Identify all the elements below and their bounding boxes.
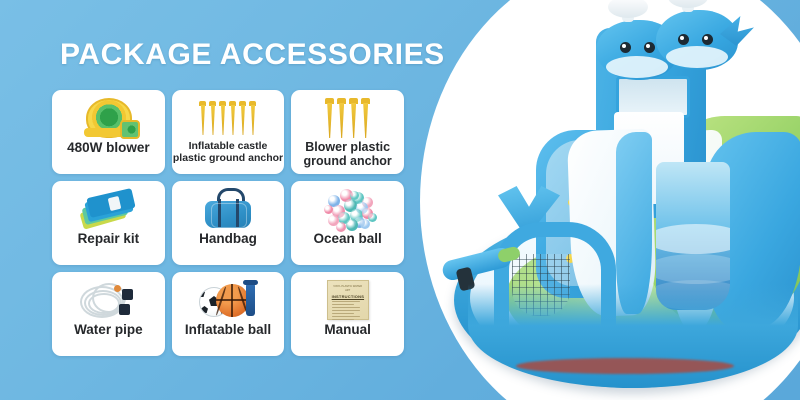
instruction-manual-icon: VINYL PLASTIC WATER ART INSTRUCTIONS (291, 277, 404, 323)
accessory-card-castle-anchor[interactable]: Inflatable castle plastic ground anchor (172, 90, 285, 174)
ground-anchor-icon (172, 95, 285, 141)
accessory-label: Manual (291, 323, 404, 338)
accessory-label: Inflatable castle plastic ground anchor (172, 141, 285, 165)
accessory-card-blower[interactable]: 480W blower (52, 90, 165, 174)
promo-banner: PACKAGE ACCESSORIES 480W blower Inflat (0, 0, 800, 400)
water-hose-icon (52, 277, 165, 323)
accessory-card-blower-anchor[interactable]: Blower plastic ground anchor (291, 90, 404, 174)
inflatable-water-slide-illustration (420, 0, 800, 400)
whale-head-right (656, 10, 738, 70)
manual-title: INSTRUCTIONS (332, 294, 364, 299)
accessory-label: Handbag (172, 232, 285, 247)
accessory-label: 480W blower (52, 141, 165, 156)
page-title: PACKAGE ACCESSORIES (60, 38, 445, 72)
accessory-card-ocean-ball[interactable]: Ocean ball (291, 181, 404, 265)
accessories-grid: 480W blower Inflatable castle plastic gr… (52, 90, 404, 356)
product-image-stage (420, 0, 800, 400)
repair-patch-icon (52, 186, 165, 232)
sports-balls-pump-icon (172, 277, 285, 323)
ground-anchor-icon (291, 95, 404, 141)
accessory-card-water-pipe[interactable]: Water pipe (52, 272, 165, 356)
accessory-label: Water pipe (52, 323, 165, 338)
handbag-icon (172, 186, 285, 232)
ocean-balls-icon (291, 186, 404, 232)
accessory-label: Repair kit (52, 232, 165, 247)
accessory-card-handbag[interactable]: Handbag (172, 181, 285, 265)
air-blower-icon (52, 95, 165, 141)
accessory-label: Inflatable ball (172, 323, 285, 338)
pool-base-trim (516, 358, 734, 374)
accessory-card-repair-kit[interactable]: Repair kit (52, 181, 165, 265)
accessory-card-inflatable-ball[interactable]: Inflatable ball (172, 272, 285, 356)
accessory-card-manual[interactable]: VINYL PLASTIC WATER ART INSTRUCTIONS Man… (291, 272, 404, 356)
manual-header: VINYL PLASTIC WATER ART (332, 285, 364, 293)
accessory-label: Blower plastic ground anchor (291, 141, 404, 169)
accessory-label: Ocean ball (291, 232, 404, 247)
